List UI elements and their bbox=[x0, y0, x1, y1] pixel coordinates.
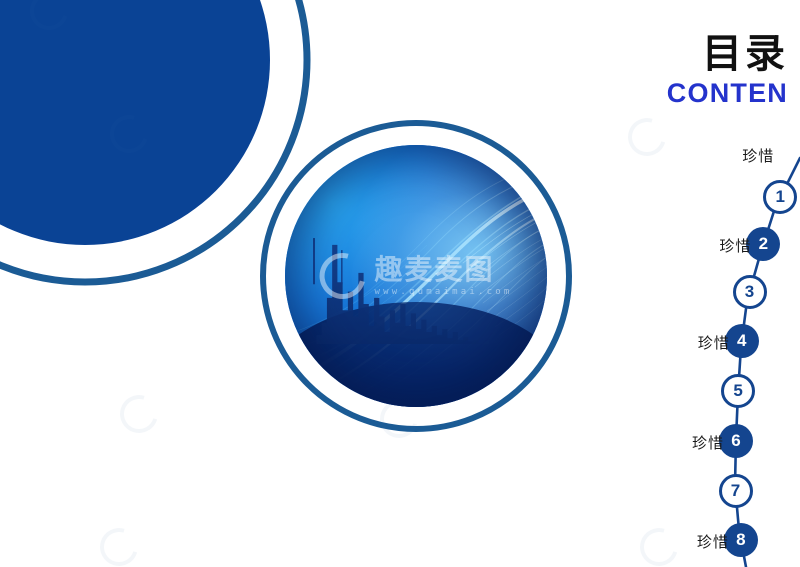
page-title-block: 目录 CONTEN bbox=[667, 34, 788, 107]
contents-label-6[interactable]: 珍惜 bbox=[652, 432, 724, 453]
slide-canvas: 趣麦麦图 www.qumaimai.com 目录 CONTEN 1珍惜2珍惜34… bbox=[0, 0, 800, 567]
contents-node-number: 7 bbox=[731, 481, 740, 501]
contents-node-3[interactable]: 3 bbox=[733, 275, 767, 309]
watermark-text-cn: 趣麦麦图 bbox=[375, 256, 513, 284]
contents-node-number: 6 bbox=[731, 431, 740, 451]
watermark-ring-icon bbox=[100, 528, 138, 566]
contents-label-1[interactable]: 珍惜 bbox=[718, 145, 774, 166]
watermark-logo-icon bbox=[311, 245, 374, 308]
contents-node-number: 4 bbox=[737, 331, 746, 351]
top-left-outline-ring bbox=[0, 0, 307, 282]
contents-node-number: 8 bbox=[736, 530, 745, 550]
watermark-ring-icon bbox=[120, 395, 158, 433]
contents-rail: 1珍惜2珍惜34珍惜56珍惜78珍惜 bbox=[600, 130, 800, 567]
contents-label-8[interactable]: 珍惜 bbox=[657, 531, 729, 552]
watermark-ring-icon bbox=[30, 0, 68, 30]
page-title: 目录 bbox=[667, 34, 788, 74]
feature-photo-circle: 趣麦麦图 www.qumaimai.com bbox=[285, 145, 547, 407]
contents-node-5[interactable]: 5 bbox=[721, 374, 755, 408]
contents-node-number: 5 bbox=[733, 381, 742, 401]
contents-node-number: 3 bbox=[745, 282, 754, 302]
watermark-ring-icon bbox=[110, 115, 148, 153]
watermark-text-url: www.qumaimai.com bbox=[375, 288, 513, 297]
contents-node-number: 1 bbox=[776, 187, 785, 207]
page-subtitle: CONTEN bbox=[667, 80, 788, 107]
contents-node-8[interactable]: 8 bbox=[724, 523, 758, 557]
photo-watermark: 趣麦麦图 www.qumaimai.com bbox=[320, 253, 513, 299]
contents-node-6[interactable]: 6 bbox=[719, 424, 753, 458]
contents-node-4[interactable]: 4 bbox=[725, 324, 759, 358]
contents-label-4[interactable]: 珍惜 bbox=[658, 332, 730, 353]
top-left-navy-disc bbox=[0, 0, 270, 245]
contents-label-2[interactable]: 珍惜 bbox=[679, 235, 751, 256]
contents-node-7[interactable]: 7 bbox=[719, 474, 753, 508]
contents-node-number: 2 bbox=[759, 234, 768, 254]
